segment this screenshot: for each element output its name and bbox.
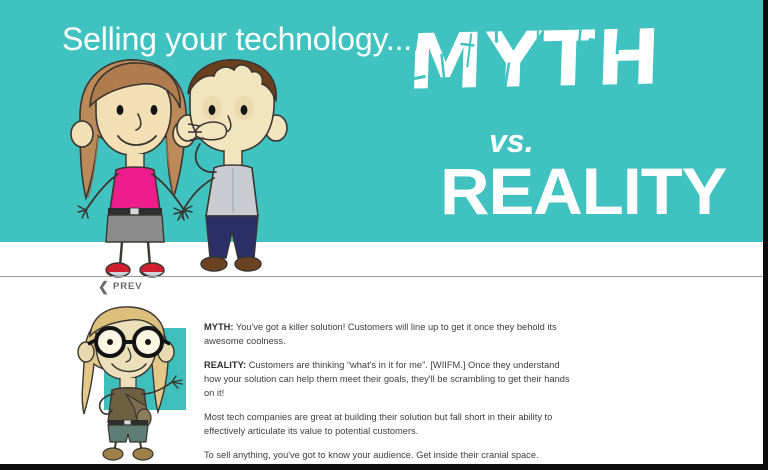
paragraph-reality-body: Customers are thinking “what's in it for… <box>204 360 570 398</box>
prev-button[interactable]: ❮ PREV <box>98 281 142 292</box>
paragraph-reality-lead: REALITY: <box>204 360 246 370</box>
content-body: MYTH: You've got a killer solution! Cust… <box>0 300 763 464</box>
paragraph-myth-body: You've got a killer solution! Customers … <box>204 322 557 346</box>
reality-word: REALITY <box>440 158 726 224</box>
slide-frame: Selling your technology... MYTH <box>0 0 768 470</box>
paragraph-tech-companies: Most tech companies are great at buildin… <box>204 410 570 438</box>
myth-word: MYTH <box>407 19 664 100</box>
paragraph-reality: REALITY: Customers are thinking “what's … <box>204 358 570 400</box>
girl-with-glasses-illustration <box>58 302 198 462</box>
hero-divider <box>0 276 763 277</box>
article-text: MYTH: You've got a killer solution! Cust… <box>204 320 570 462</box>
hero-characters-illustration <box>38 50 318 280</box>
prev-button-label: PREV <box>113 281 142 292</box>
paragraph-myth-lead: MYTH: <box>204 322 233 332</box>
girl-character <box>71 60 195 277</box>
hero-banner: Selling your technology... MYTH <box>0 0 763 242</box>
hero-headline: Selling your technology... <box>62 21 412 57</box>
vs-word: vs. <box>489 125 533 157</box>
paragraph-tech-companies-body: Most tech companies are great at buildin… <box>204 412 552 436</box>
paragraph-know-audience: To sell anything, you've got to know you… <box>204 448 570 462</box>
paragraph-myth: MYTH: You've got a killer solution! Cust… <box>204 320 570 348</box>
paragraph-know-audience-body: To sell anything, you've got to know you… <box>204 450 539 460</box>
chevron-left-icon: ❮ <box>98 281 107 292</box>
myth-word-text: MYTH <box>407 12 664 106</box>
boy-character <box>174 60 287 271</box>
